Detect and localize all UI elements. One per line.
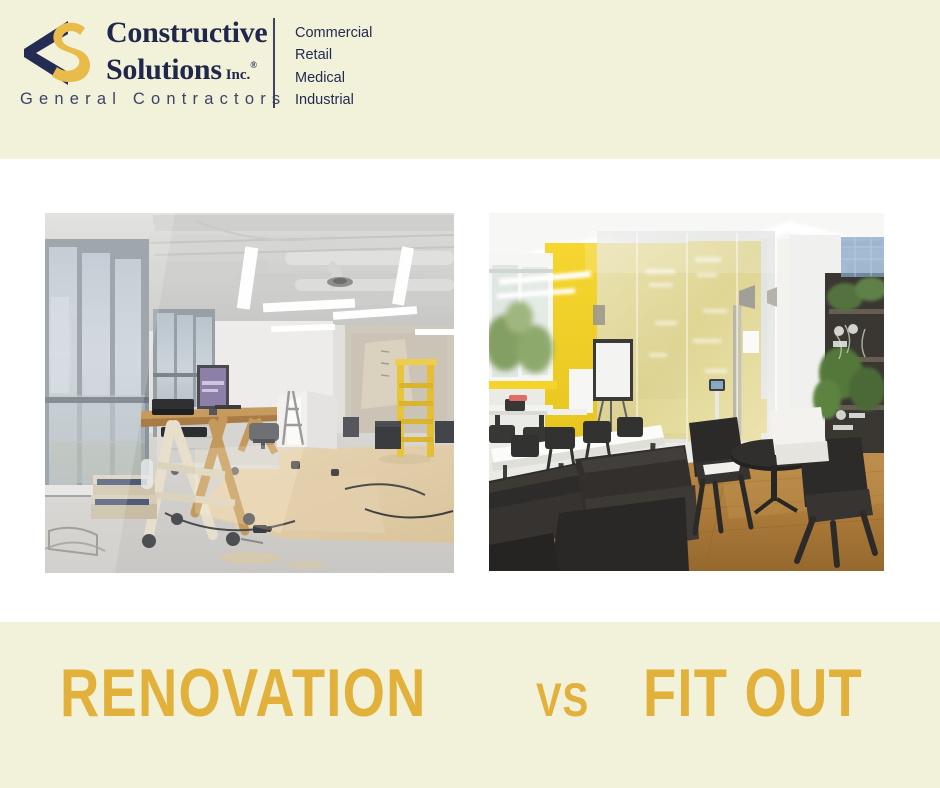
headline-word-fit-out: FIT OUT [643,659,863,727]
brand-name-line1: Constructive [106,16,296,49]
vertical-divider [273,18,275,108]
brand-logo-block[interactable]: Constructive SolutionsInc.® General Cont… [18,10,398,115]
brand-name-suffix: Inc. [226,67,251,83]
headline-conjunction-vs: VS [536,676,589,723]
service-sectors-list: Commercial Retail Medical Industrial [295,22,415,111]
brand-tagline: General Contractors [20,90,286,109]
renovation-photo [45,213,454,573]
brand-name-line2: Solutions [106,53,222,86]
service-sector-item: Commercial [295,22,415,44]
chevron-s-monogram-icon [22,17,102,89]
brand-name: Constructive SolutionsInc.® [106,16,296,92]
service-sector-item: Industrial [295,89,415,111]
headline-word-renovation: RENOVATION [60,659,427,727]
registered-trademark-icon: ® [250,60,256,70]
service-sector-item: Medical [295,67,415,89]
service-sector-item: Retail [295,44,415,66]
headline: RENOVATION VS FIT OUT [0,650,940,736]
fit-out-photo [489,213,884,571]
